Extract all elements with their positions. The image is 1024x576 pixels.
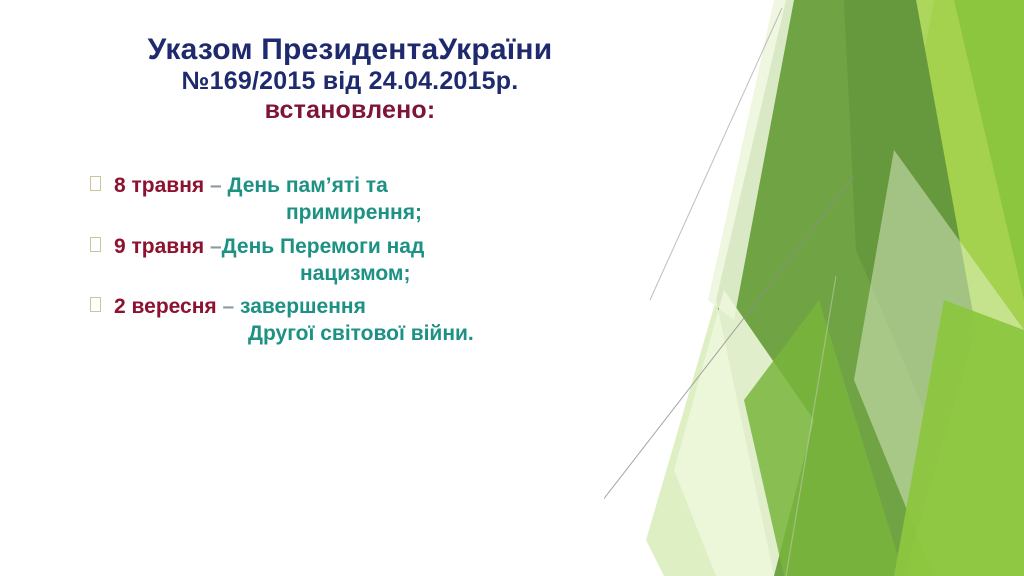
bullet-dash: – — [204, 235, 222, 258]
bullet-list: 8 травня – День пам’яті та примирення; 9… — [0, 172, 640, 354]
list-item: 2 вересня – завершення Другої світової в… — [0, 293, 640, 348]
title-line-2: №169/2015 від 24.04.2015р. — [0, 67, 700, 96]
shape-dark-olive-overlay — [844, 0, 976, 410]
bullet-continuation: Другої світової війни. — [0, 320, 640, 347]
bullet-description: День пам’яті та — [228, 174, 388, 197]
bullet-description: завершення — [240, 295, 366, 318]
bullet-continuation: примирення; — [0, 199, 640, 226]
shape-light-green-band — [819, 0, 1024, 576]
shape-pale-left-facet — [646, 300, 774, 576]
hairline-inner — [786, 276, 836, 576]
empty-box-bullet-icon — [90, 237, 101, 252]
title-line-3: встановлено: — [0, 96, 700, 125]
bullet-date: 9 травня — [114, 235, 204, 258]
shape-mid-green-lower — [744, 300, 904, 576]
list-item: 9 травня –День Перемоги над нацизмом; — [0, 233, 640, 288]
hairline-lower — [604, 176, 854, 576]
shape-pale-upper-sliver — [708, 0, 794, 320]
bullet-dash: – — [217, 295, 240, 318]
empty-box-bullet-icon — [90, 297, 101, 312]
shape-olive-diagonal — [716, 0, 976, 576]
shape-bright-bottom-right — [894, 300, 1024, 576]
slide-title-block: Указом ПрезидентаУкраїни №169/2015 від 2… — [0, 32, 700, 126]
bullet-date: 8 травня — [114, 174, 204, 197]
empty-box-bullet-icon — [90, 176, 101, 191]
shape-bright-right — [854, 0, 1024, 576]
shape-very-pale-sliver — [674, 290, 814, 576]
shape-pale-overlay-bottom — [854, 150, 1024, 576]
bullet-date: 2 вересня — [114, 295, 217, 318]
title-line-1: Указом ПрезидентаУкраїни — [0, 32, 700, 67]
bullet-dash: – — [204, 174, 227, 197]
presentation-slide: Указом ПрезидентаУкраїни №169/2015 від 2… — [0, 0, 1024, 576]
bullet-continuation: нацизмом; — [0, 260, 640, 287]
list-item: 8 травня – День пам’яті та примирення; — [0, 172, 640, 227]
bullet-description: День Перемоги над — [222, 235, 425, 258]
